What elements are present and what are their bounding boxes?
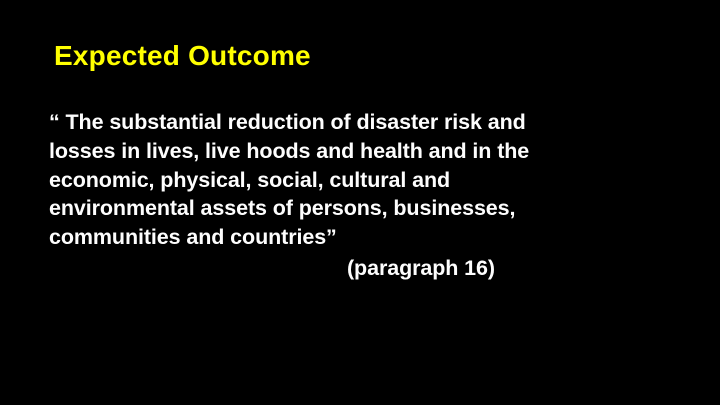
quote-line: communities and countries” — [49, 223, 639, 252]
quote-line: economic, physical, social, cultural and — [49, 166, 639, 195]
quote-line: “ The substantial reduction of disaster … — [49, 108, 639, 137]
quote-line: environmental assets of persons, busines… — [49, 194, 639, 223]
presentation-slide: Expected Outcome “ The substantial reduc… — [0, 0, 720, 405]
page-title: Expected Outcome — [54, 41, 311, 72]
quote-attribution: (paragraph 16) — [347, 254, 495, 283]
quote-line: losses in lives, live hoods and health a… — [49, 137, 639, 166]
quote-text-block: “ The substantial reduction of disaster … — [49, 108, 639, 252]
